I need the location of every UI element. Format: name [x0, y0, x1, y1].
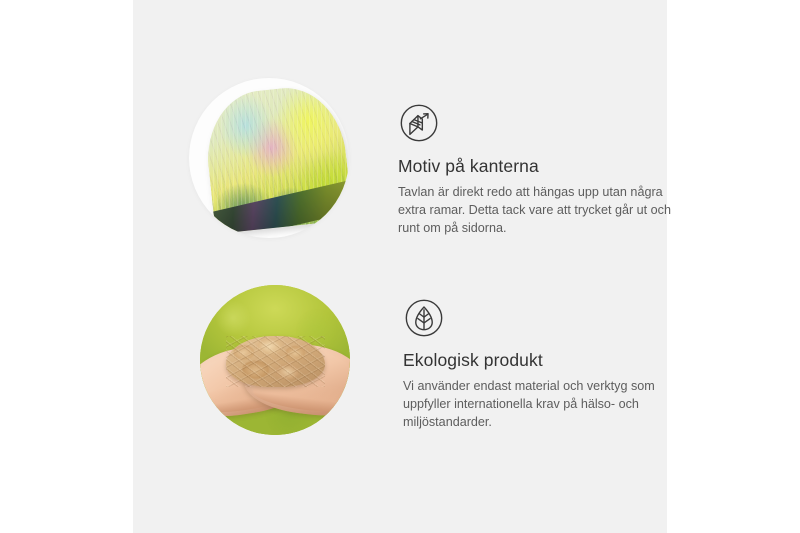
- feature-text-edge-print: Motiv på kanterna Tavlan är direkt redo …: [398, 78, 680, 237]
- wood-chip-facets: [226, 336, 325, 387]
- feature-description: Vi använder endast material och verktyg …: [403, 377, 685, 432]
- feature-title: Ekologisk produkt: [403, 350, 685, 371]
- canvas-corner-photo: [189, 78, 349, 238]
- feature-block-edge-print: Motiv på kanterna Tavlan är direkt redo …: [189, 78, 680, 238]
- feature-block-eco: Ekologisk produkt Vi använder endast mat…: [195, 272, 685, 435]
- feature-text-eco: Ekologisk produkt Vi använder endast mat…: [403, 272, 685, 431]
- hands-with-wood-chips-photo: [200, 285, 350, 435]
- leaf-icon: [403, 297, 445, 339]
- wrapped-canvas-edge-icon: [398, 102, 440, 144]
- content-panel: Motiv på kanterna Tavlan är direkt redo …: [133, 0, 667, 533]
- canvas-artwork: [201, 82, 349, 233]
- feature-description: Tavlan är direkt redo att hängas upp uta…: [398, 183, 680, 238]
- product-feature-graphic: Motiv på kanterna Tavlan är direkt redo …: [0, 0, 800, 533]
- feature-title: Motiv på kanterna: [398, 156, 680, 177]
- wood-chips: [226, 336, 325, 387]
